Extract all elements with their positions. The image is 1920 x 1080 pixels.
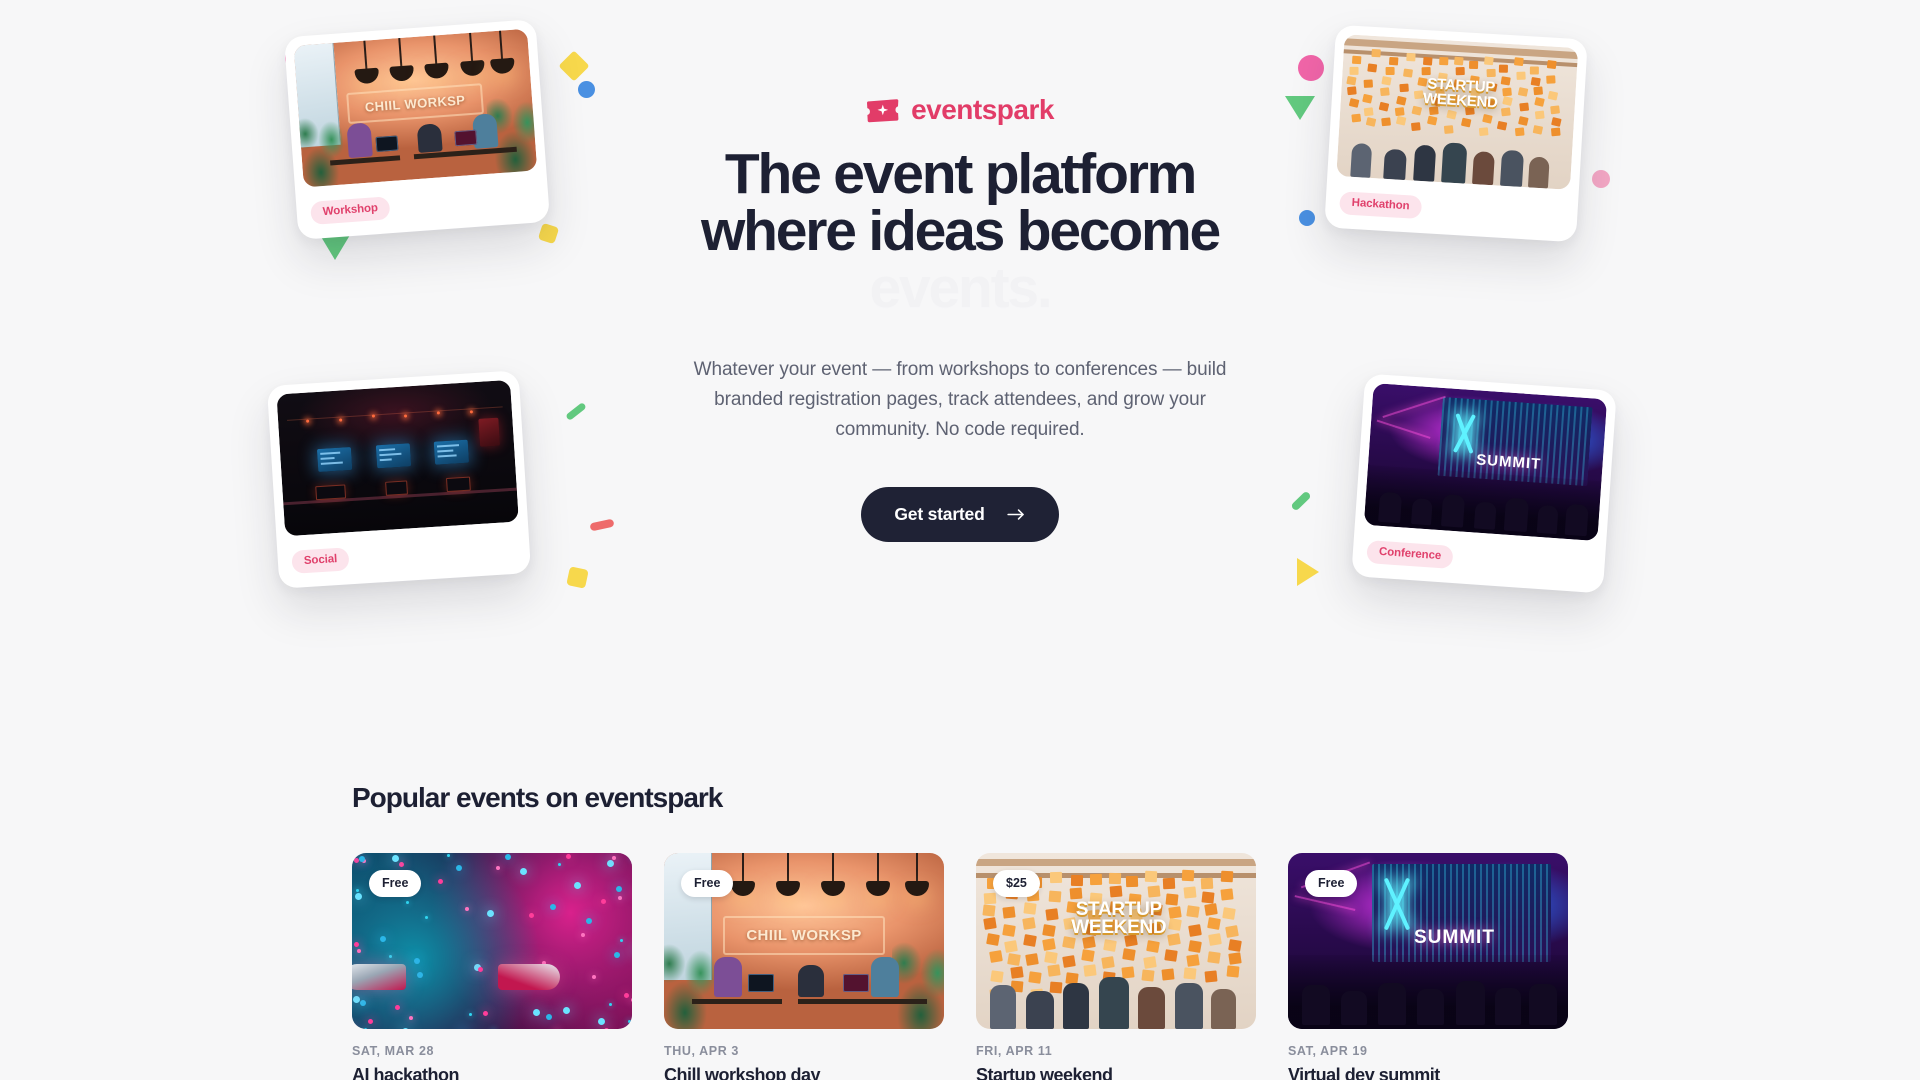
green-triangle-decor-2 bbox=[1285, 96, 1315, 120]
floating-card-hackathon[interactable]: STARTUP WEEKEND Hackathon bbox=[1324, 25, 1588, 243]
green-dash-decor-2 bbox=[1290, 490, 1311, 511]
event-title: Chill workshop day bbox=[664, 1065, 944, 1080]
landing-page: CHIIL WORKSP Workshop bbox=[0, 0, 1920, 1080]
yellow-diamond-decor bbox=[558, 50, 589, 81]
blue-dot-decor-2 bbox=[1299, 210, 1315, 226]
headline-line-3: events. bbox=[650, 260, 1270, 317]
green-dash-decor bbox=[565, 402, 587, 421]
yellow-square-decor-1 bbox=[538, 223, 559, 244]
social-category-badge: Social bbox=[291, 547, 350, 574]
pink-soft-circle-decor bbox=[1592, 170, 1610, 188]
event-title: AI hackathon bbox=[352, 1065, 632, 1080]
green-triangle-decor bbox=[320, 235, 350, 260]
blue-dot-decor bbox=[578, 81, 595, 98]
event-title: Virtual dev summit bbox=[1288, 1065, 1568, 1080]
floating-card-conference[interactable]: SUMMIT Conference bbox=[1351, 373, 1617, 593]
conference-thumbnail: SUMMIT bbox=[1364, 383, 1607, 541]
pink-circle-decor-2 bbox=[1298, 55, 1324, 81]
workshop-category-badge: Workshop bbox=[310, 196, 391, 225]
event-date: SAT, MAR 28 bbox=[352, 1044, 632, 1058]
yellow-square-decor-2 bbox=[566, 566, 589, 589]
event-thumbnail: $25 STARTUP WEEKEND bbox=[976, 853, 1256, 1029]
arrow-right-icon bbox=[1007, 508, 1026, 521]
yellow-triangle-decor bbox=[1297, 558, 1319, 586]
event-thumbnail: Free SUMMIT bbox=[1288, 853, 1568, 1029]
section-title: Popular events on eventspark bbox=[352, 782, 1568, 814]
event-card[interactable]: Free SUMMIT bbox=[1288, 853, 1568, 1080]
hero-section: CHIIL WORKSP Workshop bbox=[0, 0, 1920, 672]
hero-content: eventspark The event platform where idea… bbox=[650, 96, 1270, 542]
floating-card-workshop[interactable]: CHIIL WORKSP Workshop bbox=[284, 19, 550, 240]
ticket-sparkle-icon bbox=[866, 97, 900, 123]
price-badge: Free bbox=[1305, 870, 1357, 897]
event-date: FRI, APR 11 bbox=[976, 1044, 1256, 1058]
conference-category-badge: Conference bbox=[1366, 540, 1454, 569]
hackathon-thumbnail: STARTUP WEEKEND bbox=[1336, 34, 1578, 190]
price-badge: $25 bbox=[993, 870, 1040, 897]
get-started-button[interactable]: Get started bbox=[861, 487, 1058, 542]
event-card[interactable]: $25 STARTUP WEEKEND bbox=[976, 853, 1256, 1080]
event-thumbnail: Free CHIIL WORKSP bbox=[664, 853, 944, 1029]
events-grid: Free SAT, MAR 28 AI hackathon Free bbox=[352, 853, 1568, 1080]
workshop-wall-text: CHIIL WORKSP bbox=[346, 83, 484, 124]
headline-line-2: where ideas become bbox=[650, 203, 1270, 260]
workshop-wall-text: CHIIL WORKSP bbox=[723, 916, 885, 955]
conference-screen-text: SUMMIT bbox=[1414, 927, 1495, 949]
get-started-label: Get started bbox=[894, 504, 984, 525]
event-date: SAT, APR 19 bbox=[1288, 1044, 1568, 1058]
event-thumbnail: Free bbox=[352, 853, 632, 1029]
hero-subheadline: Whatever your event — from workshops to … bbox=[650, 355, 1270, 445]
coral-dash-decor bbox=[589, 519, 614, 532]
event-card[interactable]: Free CHIIL WORKSP bbox=[664, 853, 944, 1080]
popular-events-section: Popular events on eventspark Free SAT, M… bbox=[0, 672, 1920, 1080]
page-title: The event platform where ideas become ev… bbox=[650, 146, 1270, 317]
social-thumbnail bbox=[276, 380, 518, 536]
event-date: THU, APR 3 bbox=[664, 1044, 944, 1058]
event-title: Startup weekend bbox=[976, 1065, 1256, 1080]
floating-card-social[interactable]: Social bbox=[267, 370, 531, 588]
hackathon-category-badge: Hackathon bbox=[1339, 191, 1422, 219]
price-badge: Free bbox=[369, 870, 421, 897]
brand-name: eventspark bbox=[911, 96, 1054, 124]
headline-line-1: The event platform bbox=[650, 146, 1270, 203]
price-badge: Free bbox=[681, 870, 733, 897]
event-card[interactable]: Free SAT, MAR 28 AI hackathon bbox=[352, 853, 632, 1080]
hackathon-wall-text: STARTUP WEEKEND bbox=[1049, 901, 1189, 937]
brand-logo[interactable]: eventspark bbox=[650, 96, 1270, 124]
workshop-thumbnail: CHIIL WORKSP bbox=[294, 29, 538, 188]
